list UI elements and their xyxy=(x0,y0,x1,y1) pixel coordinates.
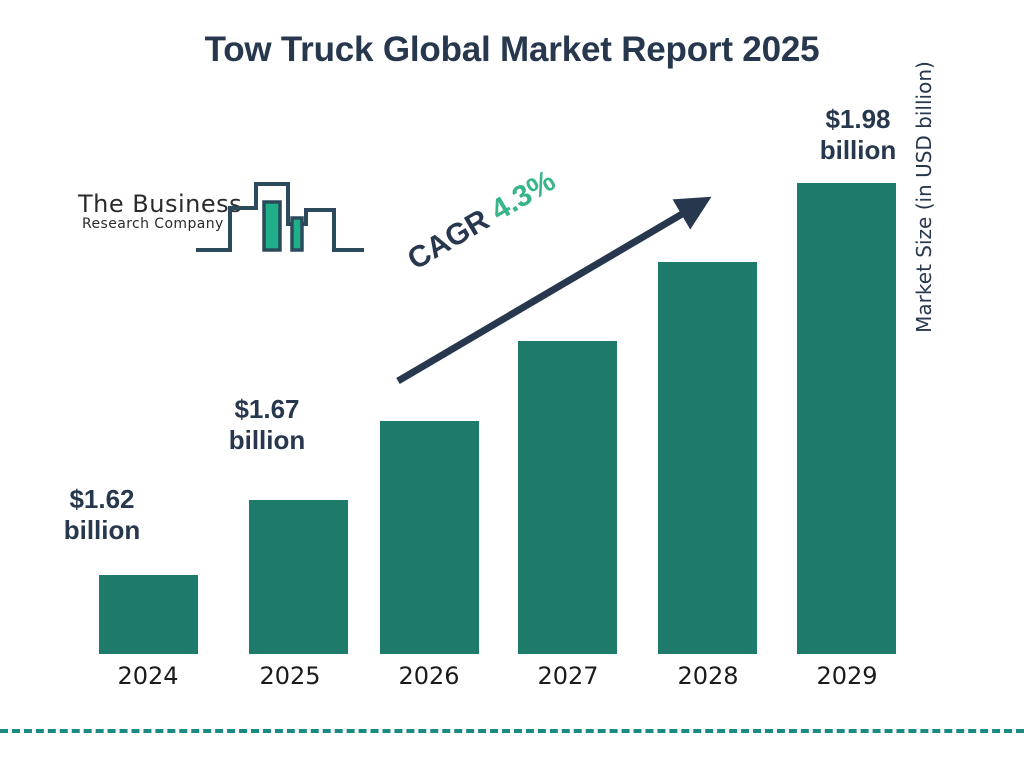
x-tick-2028: 2028 xyxy=(643,662,773,690)
value-label-2029-unit: billion xyxy=(788,135,928,166)
footer-divider xyxy=(0,729,1024,733)
cagr-label: CAGR xyxy=(402,203,495,276)
bar-2029[interactable] xyxy=(797,183,896,654)
x-tick-2027: 2027 xyxy=(503,662,633,690)
y-axis-label: Market Size (in USD billion) xyxy=(912,32,944,362)
bar-chart-logo-mark-icon xyxy=(196,178,364,256)
x-tick-2024: 2024 xyxy=(83,662,213,690)
company-logo: The Business Research Company xyxy=(78,190,288,252)
bar-2026[interactable] xyxy=(380,421,479,654)
value-label-2025-amount: $1.67 xyxy=(197,394,337,425)
bar-2027[interactable] xyxy=(518,341,617,654)
value-label-2029: $1.98 billion xyxy=(788,104,928,165)
value-label-2025: $1.67 billion xyxy=(197,394,337,455)
value-label-2024-unit: billion xyxy=(32,515,172,546)
value-label-2025-unit: billion xyxy=(197,425,337,456)
cagr-value: 4.3% xyxy=(485,164,561,227)
x-tick-2029: 2029 xyxy=(782,662,912,690)
bar-2028[interactable] xyxy=(658,262,757,654)
cagr-annotation: CAGR 4.3% xyxy=(402,164,561,277)
chart-canvas: Tow Truck Global Market Report 2025 The … xyxy=(0,0,1024,768)
value-label-2024: $1.62 billion xyxy=(32,484,172,545)
value-label-2024-amount: $1.62 xyxy=(32,484,172,515)
page-title: Tow Truck Global Market Report 2025 xyxy=(0,30,1024,70)
value-label-2029-amount: $1.98 xyxy=(788,104,928,135)
bar-2025[interactable] xyxy=(249,500,348,654)
x-tick-2025: 2025 xyxy=(225,662,355,690)
x-tick-2026: 2026 xyxy=(364,662,494,690)
bar-2024[interactable] xyxy=(99,575,198,654)
